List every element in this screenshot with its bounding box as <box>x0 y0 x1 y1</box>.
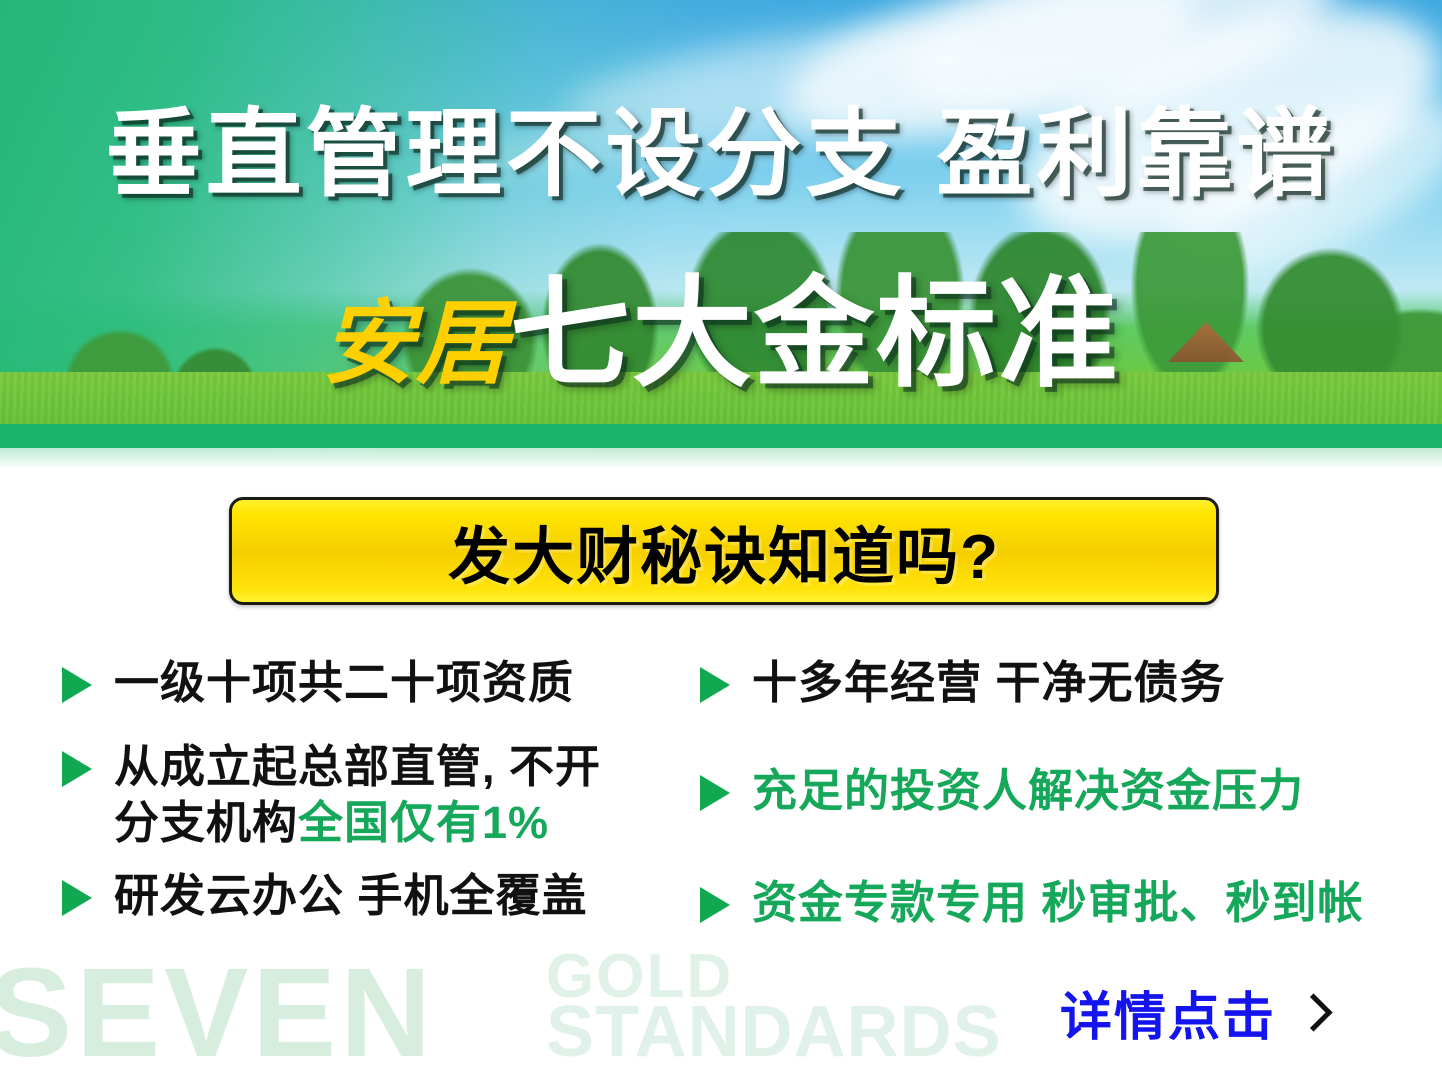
feature-columns: 一级十项共二十项资质 从成立起总部直管, 不开 分支机构全国仅有1% 研发云办公… <box>0 655 1442 995</box>
triangle-bullet-icon <box>700 775 730 811</box>
hero-banner: 垂直管理不设分支 盈利靠谱 安居七大金标准 <box>0 0 1442 468</box>
feature-text-left-1: 一级十项共二十项资质 <box>114 655 574 711</box>
feature-item-right-3: 资金专款专用 秒审批、秒到帐 <box>700 875 1410 931</box>
hero-headline: 垂直管理不设分支 盈利靠谱 <box>0 104 1442 206</box>
highlight-banner[interactable]: 发大财秘诀知道吗? <box>229 497 1219 605</box>
feature-text-left-2-line1: 从成立起总部直管, 不开 <box>114 741 601 792</box>
triangle-bullet-icon <box>62 667 92 703</box>
triangle-bullet-icon <box>700 667 730 703</box>
hero-white-fade <box>0 448 1442 468</box>
feature-column-left: 一级十项共二十项资质 从成立起总部直管, 不开 分支机构全国仅有1% 研发云办公… <box>62 655 692 952</box>
feature-item-left-2: 从成立起总部直管, 不开 分支机构全国仅有1% <box>62 739 692 851</box>
feature-item-right-1: 十多年经营 干净无债务 <box>700 655 1410 711</box>
feature-text-right-1: 十多年经营 干净无债务 <box>752 655 1226 711</box>
hero-bottom-bar <box>0 424 1442 450</box>
details-link-label: 详情点击 <box>1060 975 1276 1050</box>
feature-text-right-2: 充足的投资人解决资金压力 <box>752 763 1304 819</box>
feature-text-left-2-line2: 分支机构 <box>114 797 298 848</box>
feature-column-right: 十多年经营 干净无债务 充足的投资人解决资金压力 资金专款专用 秒审批、秒到帐 <box>700 655 1410 958</box>
feature-item-left-3: 研发云办公 手机全覆盖 <box>62 868 692 924</box>
feature-text-right-3: 资金专款专用 秒审批、秒到帐 <box>752 875 1364 931</box>
feature-item-left-1: 一级十项共二十项资质 <box>62 655 692 711</box>
feature-text-left-2-highlight: 全国仅有1% <box>298 797 549 848</box>
hero-brand-name: 安居 <box>322 293 510 395</box>
feature-text-left-2: 从成立起总部直管, 不开 分支机构全国仅有1% <box>114 739 601 851</box>
triangle-bullet-icon <box>62 751 92 787</box>
hero-subtitle: 七大金标准 <box>510 267 1120 401</box>
triangle-bullet-icon <box>62 880 92 916</box>
feature-item-right-2: 充足的投资人解决资金压力 <box>700 763 1410 819</box>
highlight-banner-text: 发大财秘诀知道吗? <box>448 506 1000 596</box>
chevron-right-icon <box>1298 993 1320 1033</box>
hero-subline: 安居七大金标准 <box>0 272 1442 397</box>
details-link[interactable]: 详情点击 <box>1060 975 1320 1050</box>
feature-text-left-3: 研发云办公 手机全覆盖 <box>114 868 588 924</box>
promo-poster: 垂直管理不设分支 盈利靠谱 安居七大金标准 发大财秘诀知道吗? SEVEN GO… <box>0 0 1442 1066</box>
triangle-bullet-icon <box>700 887 730 923</box>
watermark-standards: STANDARDS <box>546 996 1002 1066</box>
